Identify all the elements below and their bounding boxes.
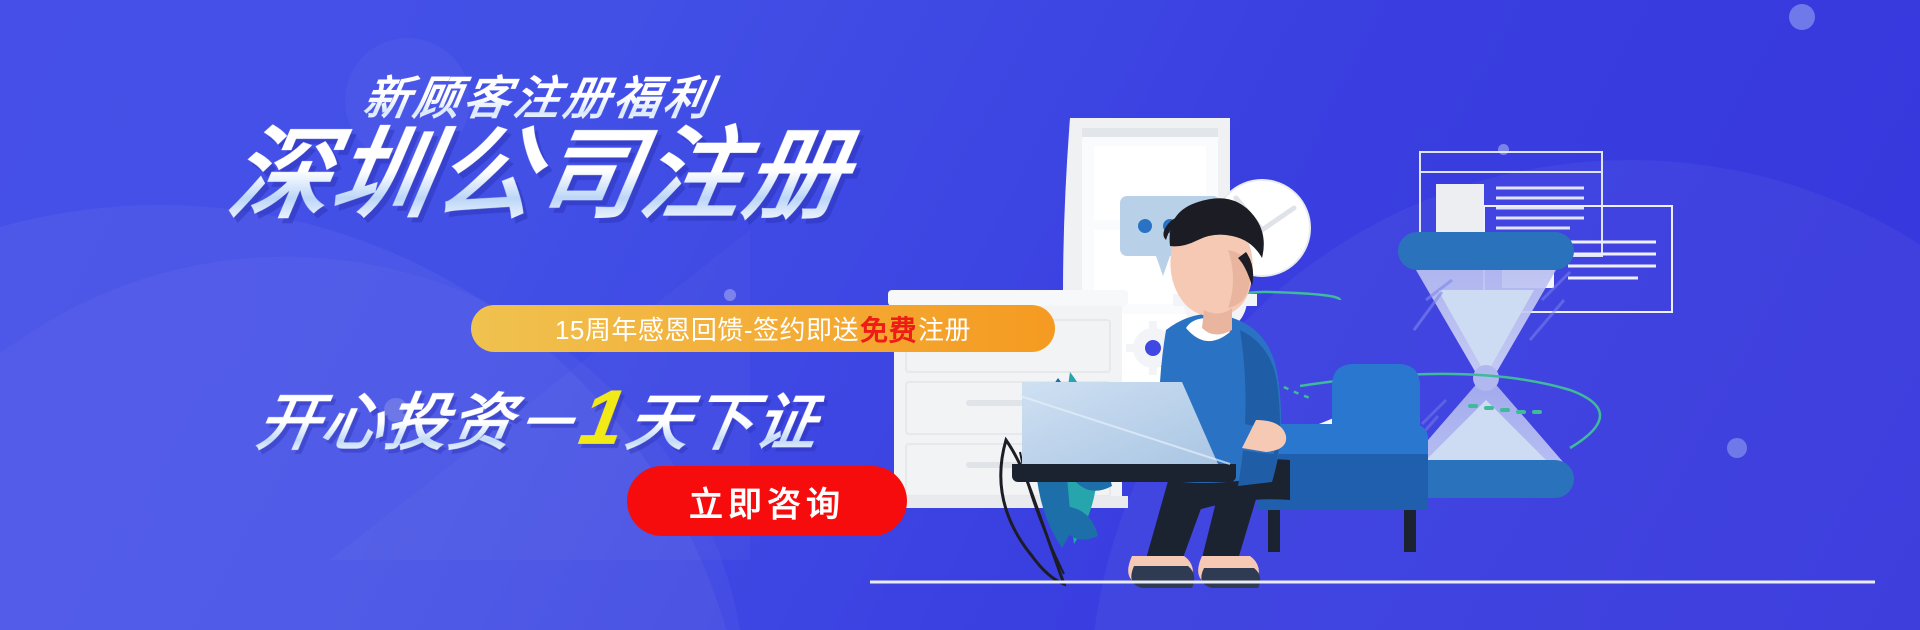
promo-pill-highlight: 免费 — [859, 309, 918, 349]
consult-now-button[interactable]: 立即咨询 — [627, 466, 907, 536]
tagline-part-2: 天下证 — [622, 389, 826, 458]
page-title: 深圳公司注册 — [0, 122, 1089, 228]
banner-tagline: 开心投资－1天下证 — [0, 372, 1088, 463]
armchair — [1258, 364, 1428, 552]
promo-pill: 15周年感恩回馈-签约即送免费注册 — [471, 305, 1055, 352]
banner-copy: 新顾客注册福利 深圳公司注册 15周年感恩回馈-签约即送免费注册 开心投资－1天… — [0, 0, 1080, 630]
promo-pill-text-after: 注册 — [918, 310, 971, 347]
promo-banner: 新顾客注册福利 深圳公司注册 15周年感恩回馈-签约即送免费注册 开心投资－1天… — [0, 0, 1920, 630]
promo-pill-text-before: 15周年感恩回馈-签约即送 — [555, 310, 859, 347]
tagline-part-1: 开心投资－ — [252, 389, 584, 458]
document-card-back-content — [1436, 184, 1584, 232]
